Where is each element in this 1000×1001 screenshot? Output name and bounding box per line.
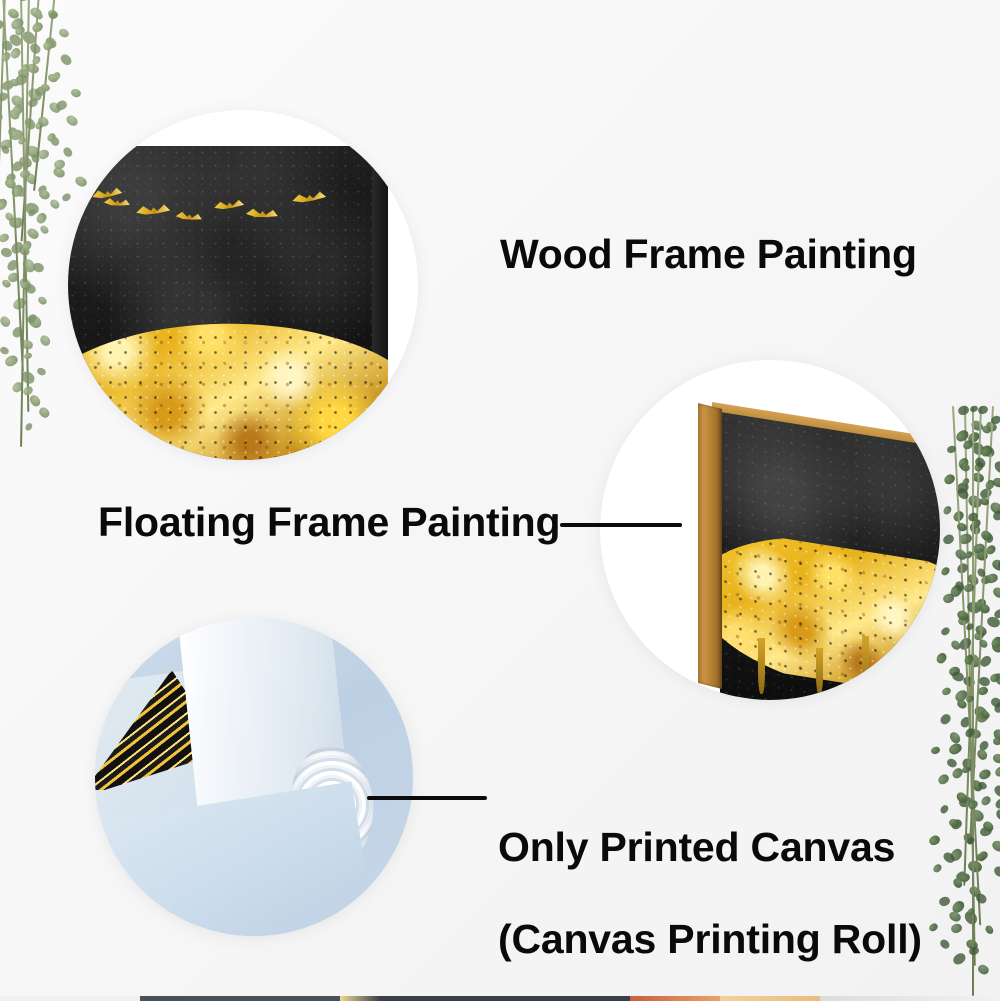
vine-leaf bbox=[30, 21, 44, 34]
vine-leaf bbox=[992, 736, 1000, 746]
vine-leaf bbox=[992, 783, 1000, 799]
vine-leaf bbox=[993, 865, 1000, 879]
printed-canvas-label-line1: Only Printed Canvas bbox=[498, 825, 922, 871]
vine-leaf bbox=[37, 406, 51, 420]
wood-frame-label: Wood Frame Painting bbox=[500, 232, 917, 278]
vine-leaf bbox=[0, 232, 10, 243]
vine-leaf bbox=[992, 459, 1000, 475]
printed-canvas-photo-circle[interactable] bbox=[95, 618, 413, 936]
printed-canvas-leader-line bbox=[367, 796, 487, 800]
vine-leaf bbox=[991, 839, 1000, 854]
vine-leaf bbox=[55, 99, 68, 111]
vine-leaf bbox=[48, 11, 58, 20]
gold-drip bbox=[862, 636, 869, 696]
vine-leaf bbox=[950, 923, 963, 934]
vine-leaf bbox=[33, 10, 44, 20]
vine-leaf bbox=[0, 346, 9, 356]
vine-leaf bbox=[957, 405, 970, 416]
vine-leaf bbox=[939, 712, 953, 726]
vine-leaf bbox=[970, 405, 979, 413]
vine-leaf bbox=[975, 892, 989, 905]
vine-leaf bbox=[35, 212, 48, 226]
bottom-color-strip bbox=[0, 996, 1000, 1001]
vine-leaf bbox=[932, 863, 943, 874]
printed-canvas-label-line2: (Canvas Printing Roll) bbox=[498, 917, 922, 963]
vine-leaf bbox=[39, 224, 50, 235]
vine-leaf bbox=[25, 226, 40, 240]
vine-leaf bbox=[938, 896, 951, 907]
floating-frame-label: Floating Frame Painting bbox=[98, 500, 560, 546]
vine-leaf bbox=[976, 963, 989, 975]
floating-frame-photo-circle[interactable] bbox=[600, 360, 940, 700]
vine-leaf bbox=[947, 730, 961, 745]
vine-leaf bbox=[24, 422, 33, 432]
vine-leaf bbox=[992, 753, 1000, 764]
vine-leaf bbox=[928, 835, 941, 847]
vine-leaf bbox=[993, 765, 1000, 779]
vine-leaf bbox=[64, 113, 79, 127]
vine-leaf bbox=[994, 798, 1000, 810]
vine-leaf bbox=[946, 757, 958, 768]
vine-leaf bbox=[968, 946, 979, 956]
vine-leaf bbox=[36, 367, 47, 377]
vine-leaf bbox=[58, 27, 70, 38]
infographic-canvas: Wood Frame Painting Floating Frame Paint… bbox=[0, 0, 1000, 1001]
vine-leaf bbox=[942, 593, 955, 604]
vine-leaf bbox=[70, 87, 81, 97]
vine-leaf bbox=[0, 314, 12, 328]
printed-canvas-label: Only Printed Canvas (Canvas Printing Rol… bbox=[498, 779, 922, 1001]
hanging-ivy-right bbox=[946, 406, 1000, 1001]
vine-leaf bbox=[939, 938, 951, 950]
vine-leaf bbox=[32, 261, 45, 272]
vine-leaf bbox=[951, 951, 967, 967]
vine-leaf bbox=[3, 354, 19, 369]
vine-leaf bbox=[937, 773, 951, 786]
vine-leaf bbox=[948, 742, 964, 757]
vine-leaf bbox=[37, 295, 48, 306]
floating-frame-wood-edge bbox=[698, 403, 722, 689]
vine-leaf bbox=[58, 52, 73, 67]
vine-leaf bbox=[942, 533, 955, 545]
vine-leaf bbox=[927, 922, 938, 933]
vine-leaf bbox=[28, 394, 42, 409]
vine-leaf bbox=[977, 768, 992, 782]
vine-leaf bbox=[978, 602, 991, 614]
vine-leaf bbox=[948, 818, 959, 828]
vine-leaf bbox=[73, 175, 88, 189]
vine-leaf bbox=[38, 188, 51, 200]
vine-leaf bbox=[992, 585, 1000, 599]
vine-leaf bbox=[941, 686, 952, 696]
vine-leaf bbox=[977, 405, 988, 415]
vine-leaf bbox=[939, 626, 950, 637]
vine-leaf bbox=[939, 566, 950, 577]
vine-leaf bbox=[39, 333, 52, 347]
vine-leaf bbox=[49, 198, 61, 210]
vine-leaf bbox=[23, 352, 32, 360]
vine-leaf bbox=[0, 197, 9, 212]
gold-drip bbox=[816, 648, 823, 694]
vine-leaf bbox=[984, 924, 995, 935]
vine-leaf bbox=[975, 747, 988, 761]
vine-leaf bbox=[967, 860, 983, 875]
vine-leaf bbox=[53, 159, 66, 170]
vine-leaf bbox=[931, 746, 941, 755]
vine-leaf bbox=[980, 795, 992, 807]
vine-leaf bbox=[995, 808, 1000, 822]
vine-leaf bbox=[943, 473, 957, 486]
floating-frame-leader-line bbox=[560, 523, 682, 527]
gold-drip bbox=[900, 646, 907, 694]
vine-leaf bbox=[939, 804, 950, 815]
vine-leaf bbox=[942, 505, 953, 516]
gold-drip bbox=[758, 638, 765, 694]
wood-frame-photo-circle[interactable] bbox=[68, 110, 418, 460]
vine-leaf bbox=[978, 675, 991, 686]
hanging-ivy-left bbox=[0, 0, 114, 462]
vine-leaf bbox=[61, 192, 72, 203]
vine-leaf bbox=[61, 146, 73, 158]
vine-leaf bbox=[959, 461, 971, 472]
